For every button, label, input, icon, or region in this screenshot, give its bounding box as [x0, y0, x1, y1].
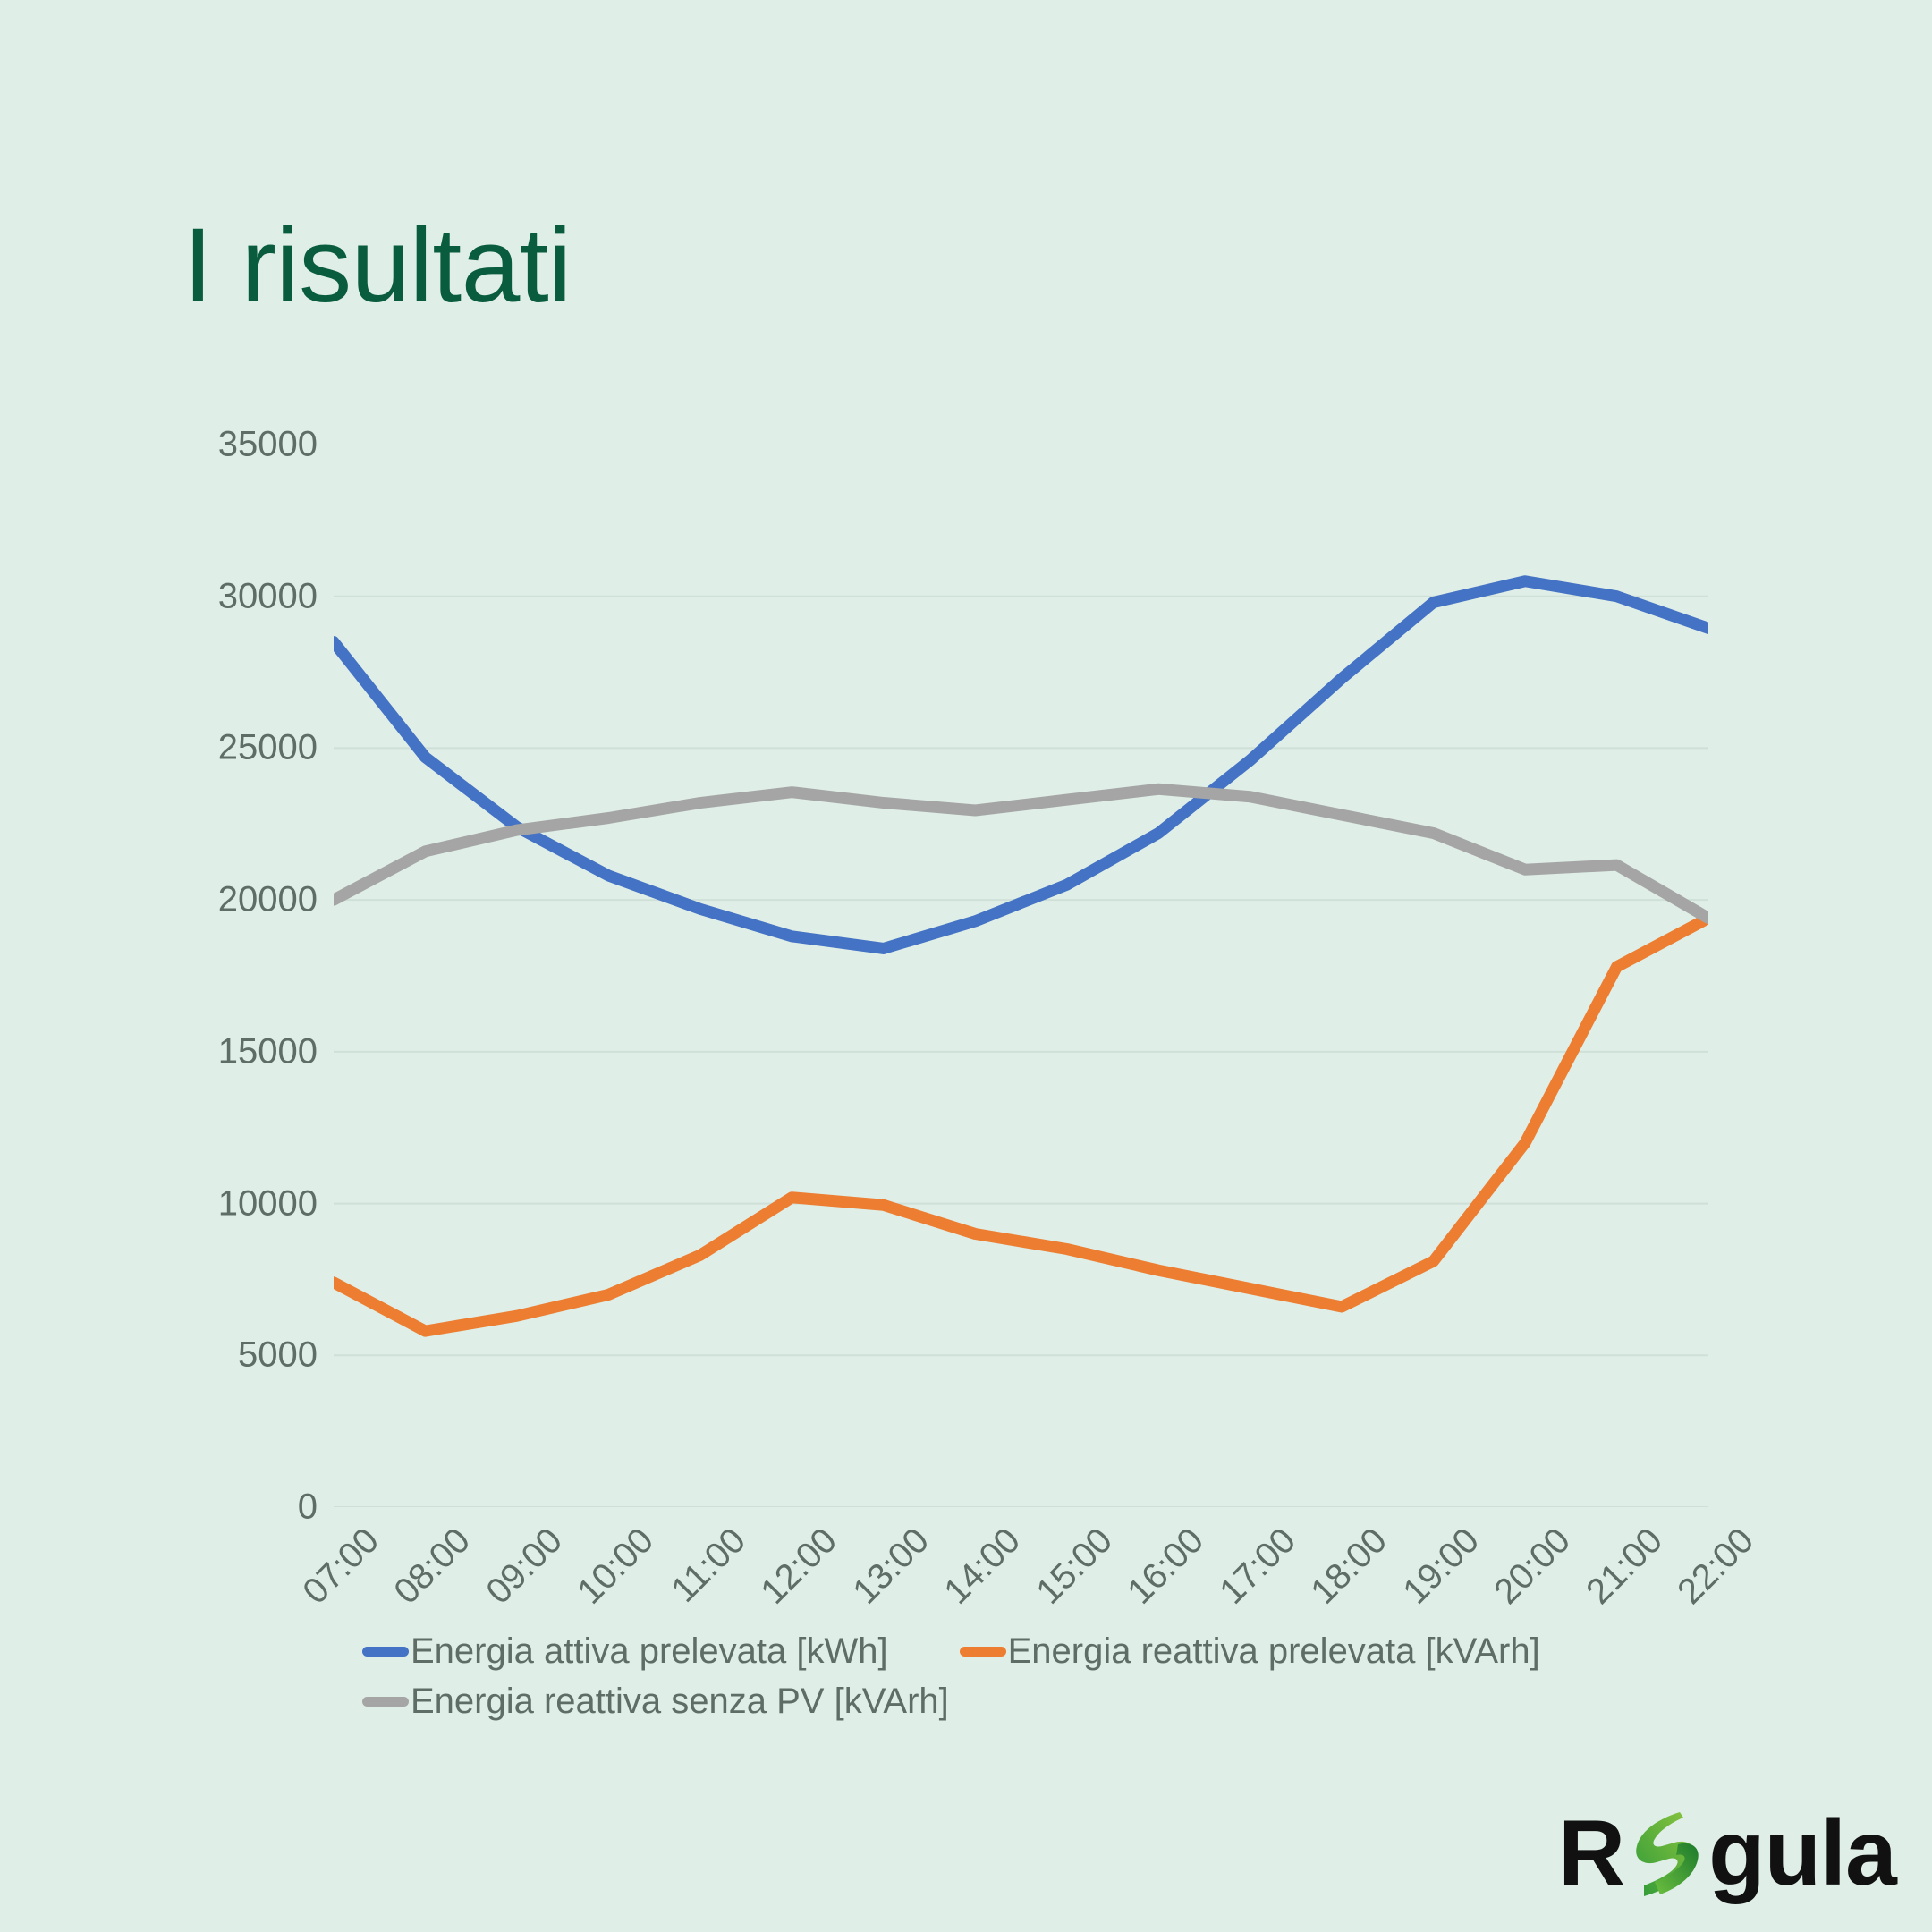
y-axis-tick-label: 15000 — [174, 1031, 318, 1072]
legend-swatch-orange-icon — [960, 1647, 1006, 1657]
poster-canvas: I risultati 0500010000150002000025000300… — [0, 0, 1932, 1932]
legend-item-energia-reattiva-prelevata[interactable]: Energia reattiva prelevata [kVArh] — [960, 1631, 1540, 1672]
y-axis-tick-label: 30000 — [174, 576, 318, 616]
chart-svg — [334, 445, 1708, 1507]
regula-leaf-mark-icon — [1624, 1807, 1707, 1900]
legend-item-energia-attiva-prelevata[interactable]: Energia attiva prelevata [kWh] — [362, 1631, 888, 1672]
y-axis-tick-label: 0 — [174, 1487, 318, 1528]
y-axis-tick-label: 35000 — [174, 425, 318, 465]
legend-label: Energia attiva prelevata [kWh] — [411, 1631, 888, 1672]
series-line-1 — [334, 919, 1708, 1332]
chart-plot-area — [334, 445, 1708, 1507]
logo-text-before: R — [1558, 1807, 1624, 1900]
legend-swatch-gray-icon — [362, 1697, 409, 1707]
y-axis-tick-label: 10000 — [174, 1183, 318, 1224]
legend-label: Energia reattiva senza PV [kVArh] — [411, 1682, 949, 1722]
chart-gridlines — [334, 445, 1708, 1507]
y-axis-tick-label: 20000 — [174, 880, 318, 920]
logo-text-after: gula — [1708, 1807, 1896, 1900]
series-line-0 — [334, 581, 1708, 949]
y-axis-tick-label: 5000 — [174, 1335, 318, 1376]
regula-logo[interactable]: R gula — [1558, 1800, 1896, 1907]
y-axis-tick-label: 25000 — [174, 728, 318, 768]
legend-row-1: Energia attiva prelevata [kWh] Energia r… — [362, 1626, 1659, 1676]
legend-row-2: Energia reattiva senza PV [kVArh] — [362, 1676, 1659, 1726]
legend-label: Energia reattiva prelevata [kVArh] — [1008, 1631, 1540, 1672]
chart-legend: Energia attiva prelevata [kWh] Energia r… — [362, 1626, 1659, 1726]
chart-series-lines — [334, 581, 1708, 1331]
legend-item-energia-reattiva-senza-pv[interactable]: Energia reattiva senza PV [kVArh] — [362, 1682, 949, 1722]
legend-swatch-blue-icon — [362, 1647, 409, 1657]
y-axis-tick-labels: 05000100001500020000250003000035000 — [161, 445, 318, 1507]
